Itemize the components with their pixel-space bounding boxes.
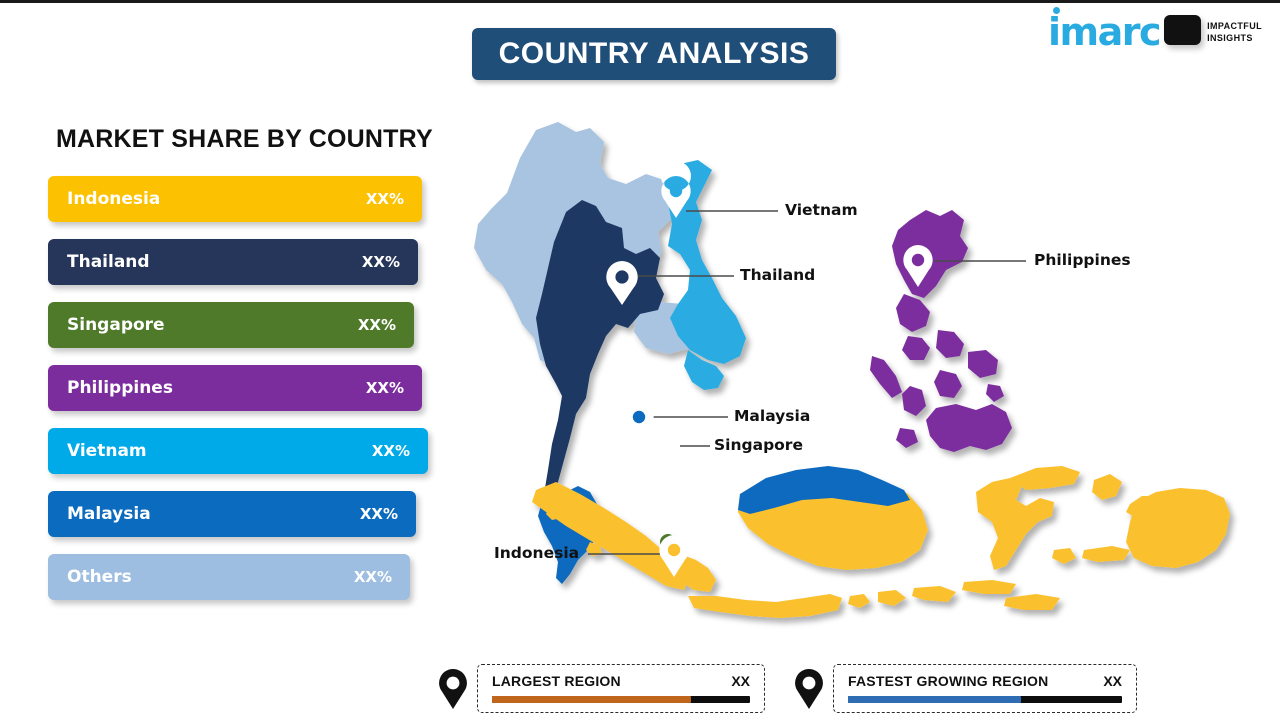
region-philippines-visayas-2 — [936, 330, 964, 358]
bar-value: XX% — [372, 442, 410, 460]
largest-region-fill — [492, 696, 691, 703]
market-share-bar-list: IndonesiaXX%ThailandXX%SingaporeXX%Phili… — [48, 176, 438, 617]
region-philippines-luzon-tail — [896, 294, 930, 332]
region-indonesia-buru — [1052, 548, 1076, 564]
region-philippines-visayas-1 — [902, 336, 930, 360]
largest-region-row: LARGEST REGION XX — [492, 673, 750, 689]
largest-region-legend: LARGEST REGION XX — [438, 664, 765, 713]
map-label-indonesia: Indonesia — [494, 544, 579, 562]
fastest-region-fill — [848, 696, 1021, 703]
market-share-bar-vietnam[interactable]: VietnamXX% — [48, 428, 428, 474]
region-indonesia-sumbawa — [912, 586, 956, 602]
map-label-thailand: Thailand — [740, 266, 815, 284]
region-indonesia-seram — [1082, 546, 1130, 562]
market-share-bar-others[interactable]: OthersXX% — [48, 554, 410, 600]
region-philippines-palawan — [870, 356, 902, 398]
largest-region-box: LARGEST REGION XX — [477, 664, 765, 713]
southeast-asia-map: Vietnam Thailand Philippines Malaysia Si… — [440, 98, 1240, 643]
bar-value: XX% — [366, 190, 404, 208]
region-indonesia-timor — [1004, 594, 1060, 610]
fastest-region-track — [848, 696, 1122, 703]
fastest-region-legend: FASTEST GROWING REGION XX — [794, 664, 1137, 713]
region-indonesia-flores — [962, 580, 1016, 594]
market-share-bar-malaysia[interactable]: MalaysiaXX% — [48, 491, 416, 537]
bar-value: XX% — [354, 568, 392, 586]
region-indonesia-halmahera — [1092, 474, 1122, 500]
fastest-region-box: FASTEST GROWING REGION XX — [833, 664, 1137, 713]
region-indonesia-sulawesi — [976, 478, 1054, 570]
largest-region-track — [492, 696, 750, 703]
bar-label: Thailand — [67, 252, 362, 272]
map-pin-icon-largest — [438, 668, 468, 710]
map-label-singapore: Singapore — [714, 436, 803, 454]
map-label-malaysia: Malaysia — [734, 407, 810, 425]
region-indonesia-bali — [848, 594, 870, 608]
logo-wordmark: imarc — [1048, 16, 1160, 48]
bar-value: XX% — [360, 505, 398, 523]
region-philippines-mindanao — [926, 404, 1012, 452]
logo-dot-icon — [1053, 7, 1060, 14]
fastest-region-row: FASTEST GROWING REGION XX — [848, 673, 1122, 689]
logo-tagline-line2: INSIGHTS — [1207, 33, 1253, 43]
fastest-region-label: FASTEST GROWING REGION — [848, 673, 1048, 689]
logo-tagline-line1: IMPACTFUL — [1207, 21, 1262, 31]
map-label-philippines: Philippines — [1034, 251, 1131, 269]
bar-label: Vietnam — [67, 441, 372, 461]
market-share-bar-philippines[interactable]: PhilippinesXX% — [48, 365, 422, 411]
logo-tagline: IMPACTFUL INSIGHTS — [1207, 20, 1262, 44]
page-title: COUNTRY ANALYSIS — [499, 37, 810, 71]
map-label-vietnam: Vietnam — [785, 201, 858, 219]
fastest-region-value: XX — [1081, 673, 1122, 689]
region-philippines-small-1 — [986, 384, 1004, 402]
bar-label: Singapore — [67, 315, 358, 335]
bar-label: Others — [67, 567, 354, 587]
map-pin-icon-fastest — [794, 668, 824, 710]
page-title-banner: COUNTRY ANALYSIS — [472, 28, 836, 80]
bar-label: Philippines — [67, 378, 366, 398]
logo-wordmark-text: imarc — [1048, 10, 1160, 54]
region-philippines-small-2 — [896, 428, 918, 448]
bar-label: Indonesia — [67, 189, 366, 209]
imarc-logo: imarc IMPACTFUL INSIGHTS — [1048, 15, 1262, 48]
logo-divider — [1164, 15, 1201, 45]
largest-region-label: LARGEST REGION — [492, 673, 621, 689]
bar-value: XX% — [362, 253, 400, 271]
region-indonesia-java — [688, 594, 842, 618]
bar-value: XX% — [358, 316, 396, 334]
largest-region-value: XX — [709, 673, 750, 689]
map-pin-malaysia[interactable] — [624, 402, 653, 444]
bar-label: Malaysia — [67, 504, 360, 524]
slide-canvas: COUNTRY ANALYSIS imarc IMPACTFUL INSIGHT… — [0, 0, 1280, 720]
region-philippines-negros — [902, 386, 926, 416]
region-philippines-visayas-3 — [968, 350, 998, 378]
market-share-bar-thailand[interactable]: ThailandXX% — [48, 239, 418, 285]
region-indonesia-lombok — [878, 590, 906, 606]
market-share-bar-indonesia[interactable]: IndonesiaXX% — [48, 176, 422, 222]
bar-value: XX% — [366, 379, 404, 397]
market-share-heading: MARKET SHARE BY COUNTRY — [56, 125, 433, 154]
market-share-bar-singapore[interactable]: SingaporeXX% — [48, 302, 414, 348]
region-philippines-visayas-4 — [934, 370, 962, 398]
